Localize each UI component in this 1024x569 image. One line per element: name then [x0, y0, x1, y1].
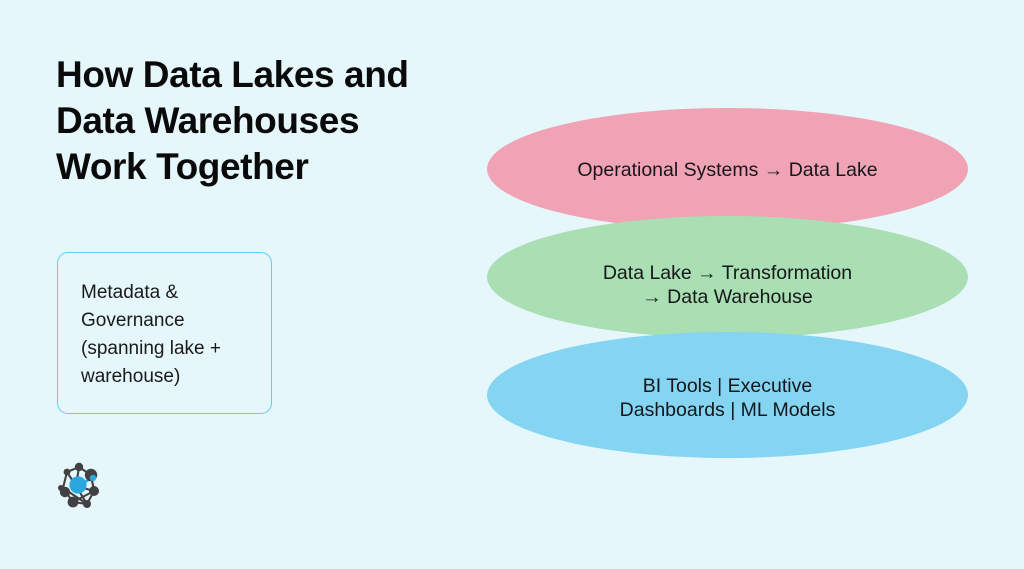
flow-stage-transformation: Data Lake → Transformation → Data Wareho… — [487, 216, 968, 338]
metadata-governance-text: Metadata & Governance (spanning lake + w… — [81, 279, 261, 391]
flow-stage-operational-label: Operational Systems → Data Lake — [527, 158, 927, 182]
flow-stage-consumption-label: BI Tools | Executive Dashboards | ML Mod… — [570, 374, 886, 422]
flow-stage-consumption: BI Tools | Executive Dashboards | ML Mod… — [487, 332, 968, 458]
data-flow-diagram: Operational Systems → Data Lake Data Lak… — [487, 108, 968, 458]
page-title: How Data Lakes and Data Warehouses Work … — [56, 52, 486, 190]
network-graph-logo — [53, 458, 105, 514]
metadata-governance-card: Metadata & Governance (spanning lake + w… — [57, 252, 272, 414]
flow-stage-operational: Operational Systems → Data Lake — [487, 108, 968, 230]
flow-stage-transformation-label: Data Lake → Transformation → Data Wareho… — [553, 261, 902, 309]
slide-canvas: How Data Lakes and Data Warehouses Work … — [0, 0, 1024, 569]
